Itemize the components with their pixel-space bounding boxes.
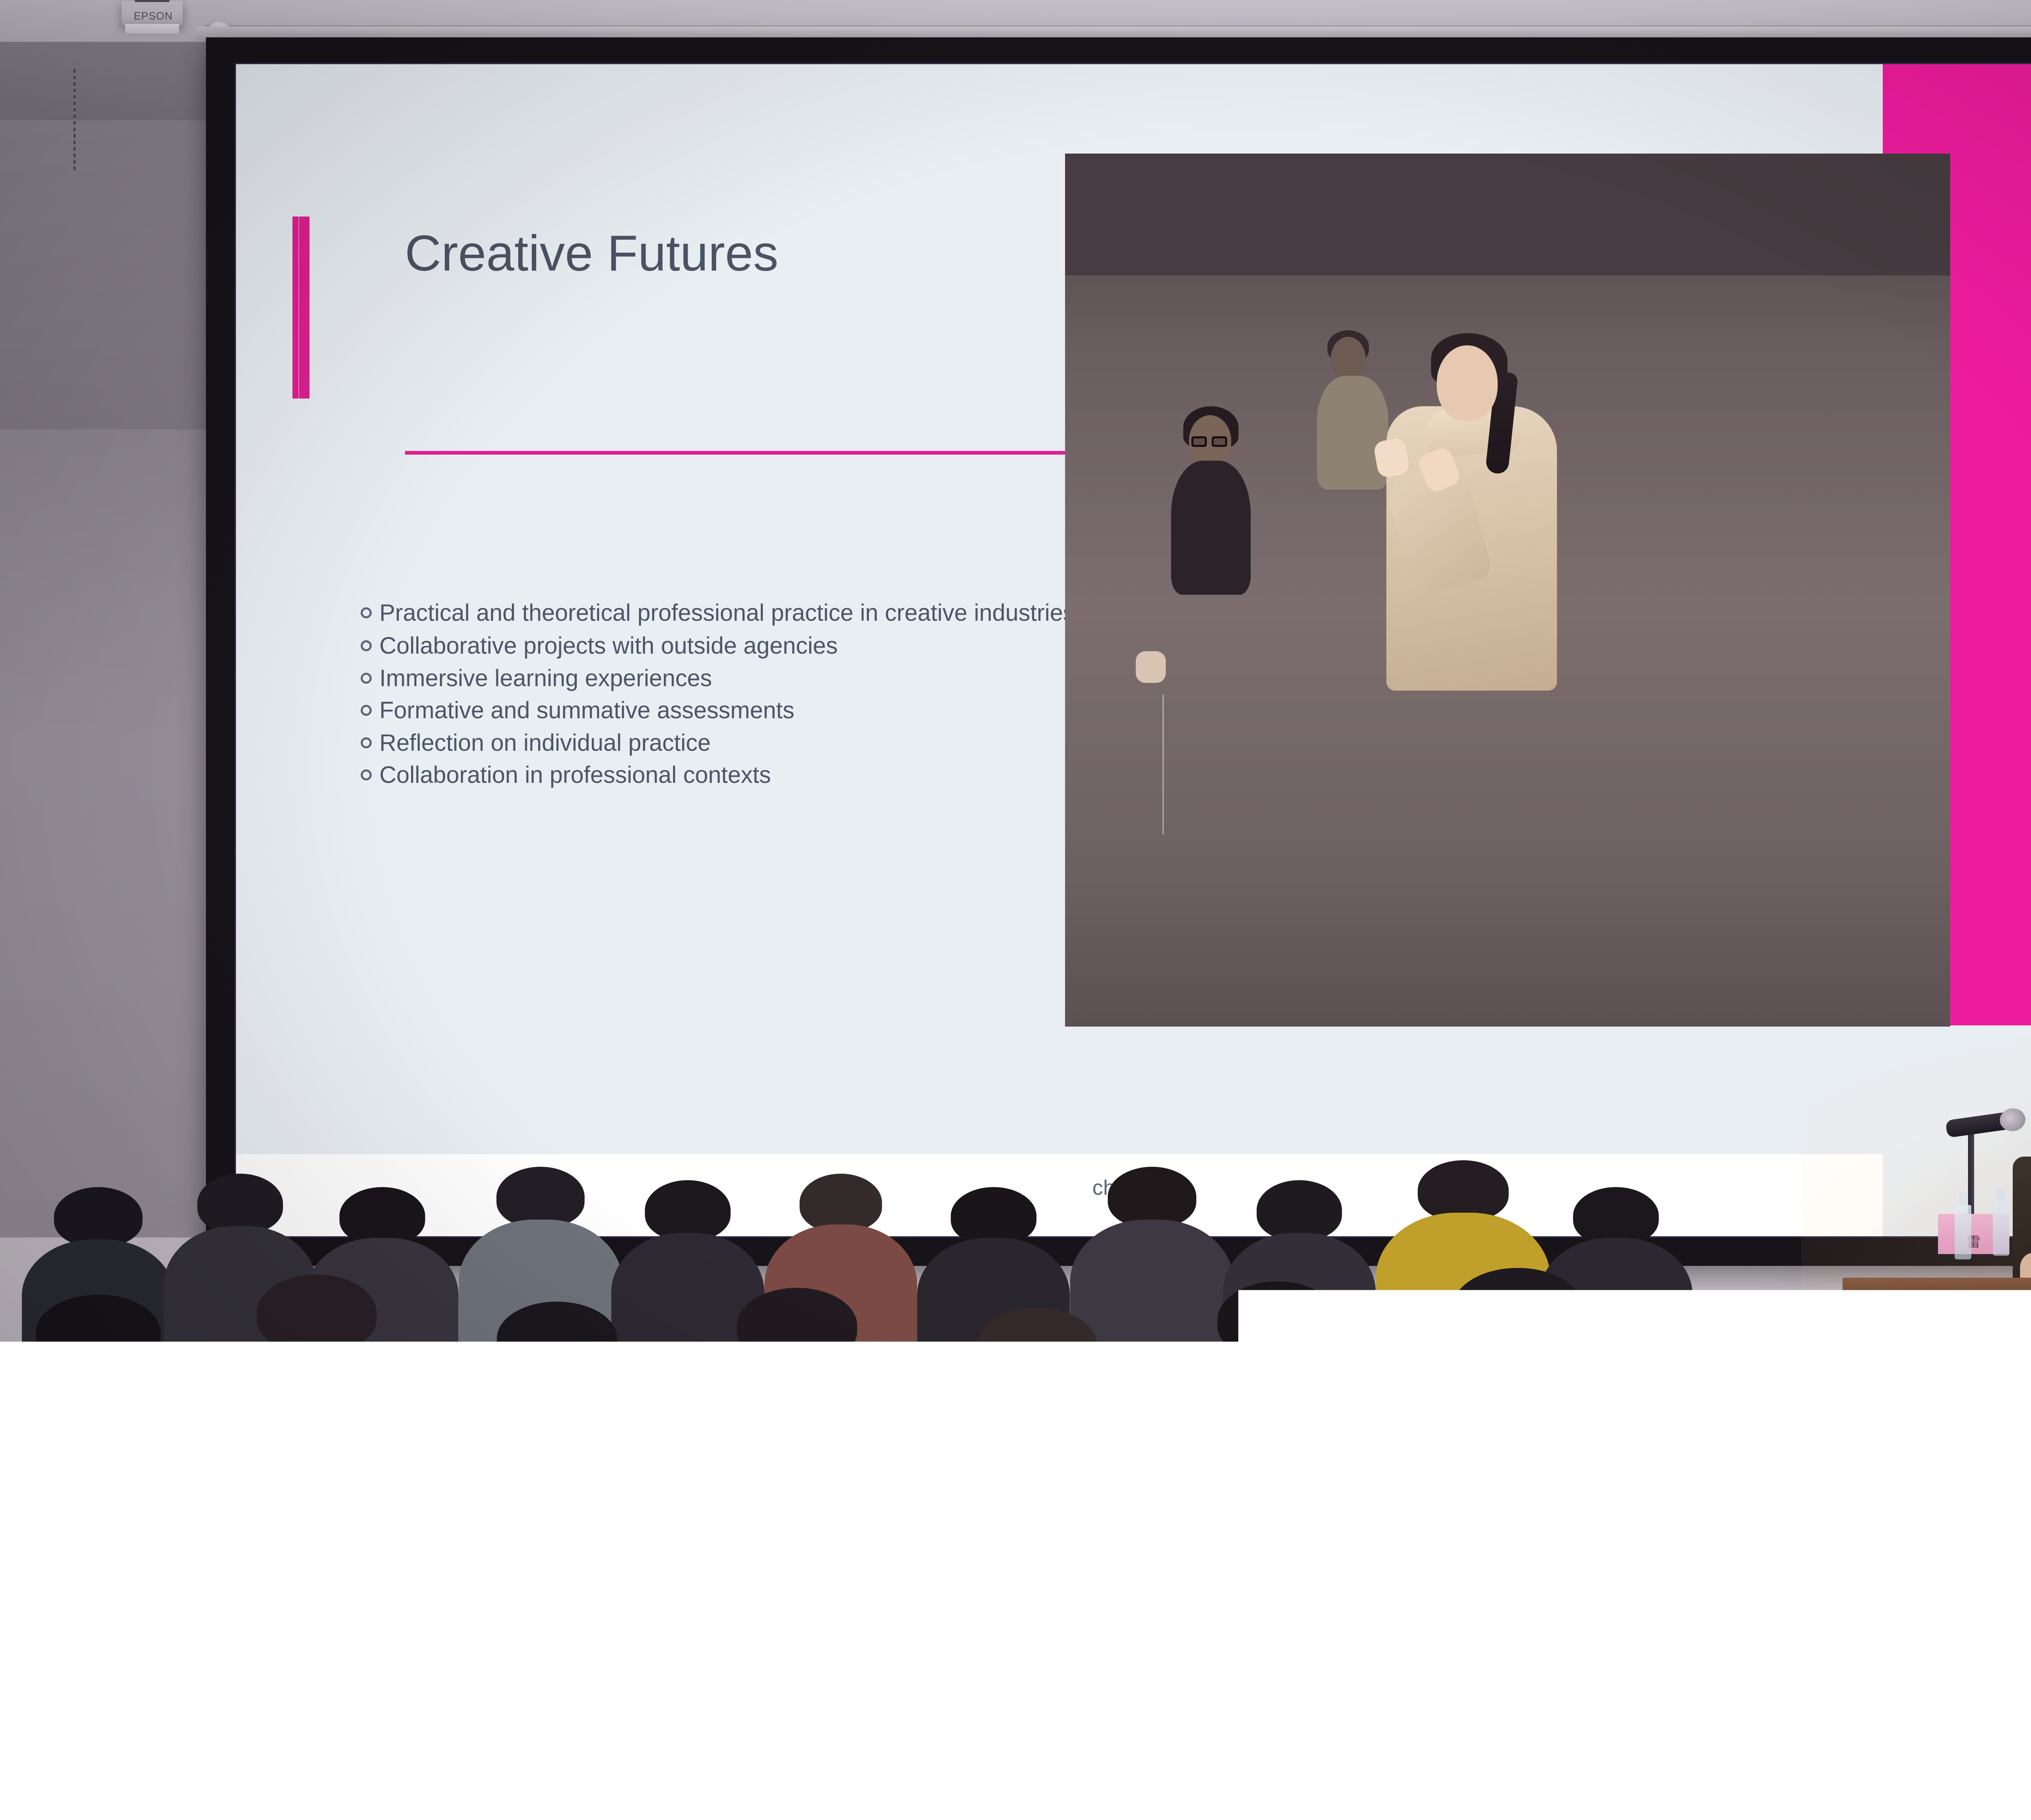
- audience-head: [1418, 1160, 1509, 1221]
- audience-head: [496, 1167, 585, 1227]
- performer-body: [1317, 376, 1388, 490]
- audience-head: [1453, 1268, 1583, 1349]
- audience-head: [257, 1274, 377, 1352]
- photo-dark-backdrop: [1065, 154, 1950, 276]
- audience-head: [737, 1288, 857, 1363]
- projector: EPSON: [121, 1, 183, 25]
- projector-mount: [135, 0, 169, 2]
- audience-head: [1676, 1295, 1796, 1372]
- audience-head: [1108, 1167, 1196, 1227]
- projection-screen: Creative Futures Practical and theoretic…: [206, 37, 2031, 1266]
- audience-member-front: [1747, 1443, 2031, 1820]
- audience-head: [831, 1456, 1004, 1569]
- audience-head: [951, 1187, 1037, 1245]
- audience-head: [497, 1302, 617, 1375]
- audience-head: [1093, 1483, 1266, 1588]
- audience-shoulders: [87, 1713, 568, 1820]
- audience-head: [197, 1174, 283, 1234]
- audience-shoulders: [1747, 1545, 2031, 1820]
- performer-body: [1171, 461, 1251, 595]
- audience-head: [645, 1180, 731, 1240]
- projector-lens: [125, 24, 179, 34]
- performer-head: [1331, 337, 1366, 381]
- audience-head: [712, 1658, 904, 1745]
- audience-head: [1256, 1180, 1342, 1240]
- audience-head: [569, 1430, 742, 1551]
- audience-member-nearest: [87, 1631, 568, 1820]
- audience-head: [339, 1187, 425, 1245]
- brand-mark-icon: [292, 217, 310, 398]
- audience-head: [31, 1470, 209, 1586]
- audience-member-nearest: [568, 1658, 1048, 1820]
- audience-head: [799, 1174, 882, 1232]
- audience-head: [977, 1308, 1098, 1381]
- audience-head: [1192, 1645, 1384, 1736]
- performer-glasses-icon: [1191, 436, 1230, 447]
- audience-head: [1851, 1443, 2014, 1560]
- presentation-slide: Creative Futures Practical and theoretic…: [236, 64, 2031, 1236]
- audience-head: [1573, 1187, 1659, 1245]
- audience: [0, 1146, 2031, 1820]
- performer-head: [1437, 345, 1498, 421]
- audience-shoulders: [568, 1734, 1048, 1820]
- hanging-thread: [1163, 695, 1164, 834]
- audience-shoulders: [1048, 1724, 1529, 1820]
- audience-head: [36, 1295, 161, 1370]
- audience-head: [1217, 1281, 1338, 1359]
- hanging-chain: [74, 69, 76, 171]
- projector-brand-label: EPSON: [134, 10, 173, 22]
- lecture-hall-scene: EPSON Creative Futures: [0, 0, 2031, 1820]
- slide-inset-photo: [1065, 154, 1950, 1027]
- performer-side-hand: [1136, 651, 1166, 683]
- audience-head: [227, 1631, 429, 1726]
- water-bottle-audience: [508, 1532, 545, 1660]
- audience-head: [297, 1443, 468, 1564]
- audience-head: [54, 1187, 143, 1247]
- audience-member-nearest: [1048, 1645, 1529, 1820]
- audience-head: [1355, 1497, 1528, 1598]
- slide-title: Creative Futures: [405, 228, 779, 279]
